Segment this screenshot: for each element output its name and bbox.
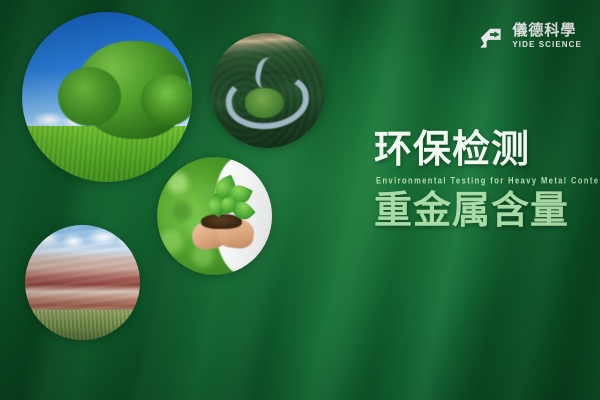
- environmental-testing-banner: 儀德科學 YIDE SCIENCE 环保检测 Environmental Tes…: [0, 0, 600, 400]
- headline-block: 环保检测 Environmental Testing for Heavy Met…: [374, 128, 574, 231]
- logo-name-en: YIDE SCIENCE: [512, 41, 582, 49]
- river-island-shape: [245, 88, 284, 118]
- headline-subtitle: Environmental Testing for Heavy Metal Co…: [376, 174, 574, 185]
- photo-contaminated-tailings-pond: [25, 225, 140, 340]
- arrow-checkmark-logo-icon: [474, 20, 505, 51]
- photo-aerial-river-forest: [210, 33, 325, 148]
- brand-logo[interactable]: 儀德科學 YIDE SCIENCE: [474, 20, 582, 51]
- logo-text-block: 儀德科學 YIDE SCIENCE: [512, 23, 582, 49]
- tailings-pond-scene: [25, 225, 140, 340]
- headline-line-2: 重金属含量: [374, 189, 574, 232]
- logo-name-cn: 儀德科學: [512, 23, 582, 38]
- cloud-layer: [25, 227, 140, 250]
- grass-shore-layer: [25, 310, 140, 340]
- aerial-forest-scene: [210, 33, 325, 148]
- photo-hands-holding-seedling: [157, 157, 272, 275]
- tree-canopy-shape: [76, 41, 188, 140]
- headline-line-1: 环保检测: [374, 128, 574, 171]
